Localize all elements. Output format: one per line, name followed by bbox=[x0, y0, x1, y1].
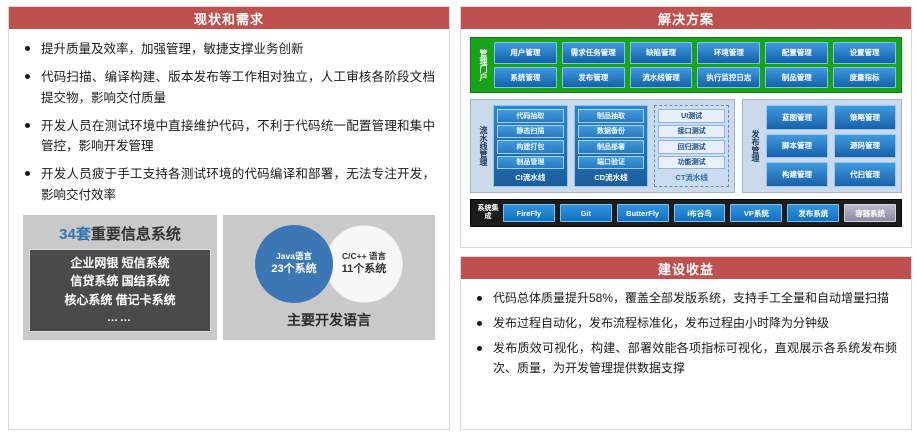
integration-item-git[interactable]: Git bbox=[560, 204, 612, 222]
release-button-strategy[interactable]: 策略管理 bbox=[834, 105, 896, 130]
ci-step-code-extract[interactable]: 代码抽取 bbox=[497, 109, 564, 123]
venn-cpp-label: C/C++ 语言 bbox=[342, 251, 386, 262]
cd-step-artifact-deploy[interactable]: 制品部署 bbox=[578, 140, 645, 154]
solution-panel: 解决方案 管理门户 用户管理 需求任务管理 缺陷管理 环境管理 配置管理 设置管… bbox=[460, 6, 912, 248]
solution-body: 管理门户 用户管理 需求任务管理 缺陷管理 环境管理 配置管理 设置管理 系统管… bbox=[461, 29, 911, 247]
venn-diagram: Java语言 23个系统 C/C++ 语言 11个系统 bbox=[249, 225, 409, 303]
release-management-label: 发布管理 bbox=[748, 105, 762, 187]
ci-step-artifact-mgmt[interactable]: 制品管理 bbox=[497, 156, 564, 170]
system-name-box: 企业网银 短信系统 信贷系统 国结系统 核心系统 借记卡系统 …… bbox=[29, 249, 211, 332]
current-status-body: 提升质量及效率，加强管理，敏捷支撑业务创新 代码扫描、编译构建、版本发布等工作相… bbox=[9, 29, 449, 346]
list-item: 代码扫描、编译构建、版本发布等工作相对独立，人工审核各阶段文档提交物，影响交付质… bbox=[23, 67, 435, 108]
cd-step-port-verify[interactable]: 端口验证 bbox=[578, 156, 645, 170]
integration-item-firefly[interactable]: FireFly bbox=[503, 204, 555, 222]
portal-button-execution-monitor-log[interactable]: 执行监控日志 bbox=[697, 67, 760, 89]
cd-step-artifact-extract[interactable]: 制品抽取 bbox=[578, 109, 645, 123]
portal-button-pipeline-management[interactable]: 流水线管理 bbox=[630, 67, 693, 89]
slide-root: 现状和需求 提升质量及效率，加强管理，敏捷支撑业务创新 代码扫描、编译构建、版本… bbox=[0, 0, 919, 436]
pipeline-column-ct[interactable]: UI测试 接口测试 回归测试 功能测试 CT流水线 bbox=[654, 105, 729, 187]
integration-item-container[interactable]: 容器系统 bbox=[844, 204, 896, 222]
stats-section: 34套重要信息系统 企业网银 短信系统 信贷系统 国结系统 核心系统 借记卡系统… bbox=[23, 215, 435, 340]
integration-item-butterfly[interactable]: ButterFly bbox=[617, 204, 669, 222]
portal-button-artifact-management[interactable]: 制品管理 bbox=[765, 67, 828, 89]
ct-step-function-test[interactable]: 功能测试 bbox=[658, 156, 725, 170]
list-item: 代码总体质量提升58%，覆盖全部发版系统，支持手工全量和自动增量扫描 bbox=[475, 289, 897, 308]
benefit-bullet-list: 代码总体质量提升58%，覆盖全部发版系统，支持手工全量和自动增量扫描 发布过程自… bbox=[475, 289, 897, 378]
management-portal-label: 管理门户 bbox=[476, 42, 490, 88]
pipeline-release-row: 流水线管理 代码抽取 静态扫描 构建打包 制品管理 CI流水线 制品抽取 数据备… bbox=[470, 99, 902, 193]
release-management-block: 发布管理 蓝图管理 策略管理 脚本管理 源码管理 构建管理 代扫管理 bbox=[742, 99, 902, 193]
portal-button-environment-management[interactable]: 环境管理 bbox=[697, 42, 760, 64]
system-count-label: 重要信息系统 bbox=[91, 226, 181, 243]
list-item: 核心系统 借记卡系统 bbox=[64, 291, 175, 310]
portal-button-settings-management[interactable]: 设置管理 bbox=[833, 42, 896, 64]
release-button-source-code[interactable]: 源码管理 bbox=[834, 134, 896, 159]
venn-caption: 主要开发语言 bbox=[287, 310, 371, 330]
list-item: 开发人员在测试环境中直接维护代码，不利于代码统一配置管理和集中管控，影响开发管理 bbox=[23, 116, 435, 157]
integration-item-cuckoo[interactable]: i布谷鸟 bbox=[674, 204, 726, 222]
portal-button-config-management[interactable]: 配置管理 bbox=[765, 42, 828, 64]
ct-step-interface-test[interactable]: 接口测试 bbox=[658, 125, 725, 139]
benefit-panel: 建设收益 代码总体质量提升58%，覆盖全部发版系统，支持手工全量和自动增量扫描 … bbox=[460, 256, 912, 430]
venn-cpp-count: 11个系统 bbox=[342, 262, 387, 276]
list-item: 开发人员疲于手工支持各测试环境的代码编译和部署，无法专注开发，影响交付效率 bbox=[23, 164, 435, 205]
ct-step-regression-test[interactable]: 回归测试 bbox=[658, 140, 725, 154]
release-button-grid: 蓝图管理 策略管理 脚本管理 源码管理 构建管理 代扫管理 bbox=[766, 105, 896, 187]
pipeline-name-cd: CD流水线 bbox=[578, 171, 645, 183]
list-item: 信贷系统 国结系统 bbox=[70, 272, 169, 291]
portal-button-system-management[interactable]: 系统管理 bbox=[494, 67, 557, 89]
pipeline-column-ci[interactable]: 代码抽取 静态扫描 构建打包 制品管理 CI流水线 bbox=[493, 105, 568, 187]
benefit-body: 代码总体质量提升58%，覆盖全部发版系统，支持手工全量和自动增量扫描 发布过程自… bbox=[461, 279, 911, 394]
ci-step-build-package[interactable]: 构建打包 bbox=[497, 140, 564, 154]
portal-button-requirement-task[interactable]: 需求任务管理 bbox=[562, 42, 625, 64]
management-portal-block: 管理门户 用户管理 需求任务管理 缺陷管理 环境管理 配置管理 设置管理 系统管… bbox=[470, 37, 902, 93]
language-venn-card: Java语言 23个系统 C/C++ 语言 11个系统 主要开发语言 bbox=[223, 215, 435, 340]
list-item: 提升质量及效率，加强管理，敏捷支撑业务创新 bbox=[23, 39, 435, 59]
portal-button-defect-management[interactable]: 缺陷管理 bbox=[630, 42, 693, 64]
portal-button-user-management[interactable]: 用户管理 bbox=[494, 42, 557, 64]
release-button-build[interactable]: 构建管理 bbox=[766, 162, 828, 187]
current-status-header: 现状和需求 bbox=[9, 7, 449, 29]
important-systems-card: 34套重要信息系统 企业网银 短信系统 信贷系统 国结系统 核心系统 借记卡系统… bbox=[23, 215, 217, 340]
solution-header: 解决方案 bbox=[461, 7, 911, 29]
benefit-header: 建设收益 bbox=[461, 257, 911, 279]
management-portal-button-grid: 用户管理 需求任务管理 缺陷管理 环境管理 配置管理 设置管理 系统管理 发布管… bbox=[494, 42, 896, 88]
cd-step-data-backup[interactable]: 数据备份 bbox=[578, 125, 645, 139]
ct-step-ui-test[interactable]: UI测试 bbox=[658, 109, 725, 123]
venn-java-label: Java语言 bbox=[276, 251, 312, 262]
integration-item-release[interactable]: 发布系统 bbox=[787, 204, 839, 222]
system-integration-grid: FireFly Git ButterFly i布谷鸟 VP系统 发布系统 容器系… bbox=[503, 204, 896, 222]
integration-item-vp-system[interactable]: VP系统 bbox=[730, 204, 782, 222]
venn-circle-cpp: C/C++ 语言 11个系统 bbox=[325, 225, 403, 303]
release-button-blueprint[interactable]: 蓝图管理 bbox=[766, 105, 828, 130]
ellipsis-text: …… bbox=[107, 310, 133, 327]
pipeline-management-label: 流水线管理 bbox=[476, 105, 490, 187]
release-button-code-scan[interactable]: 代扫管理 bbox=[834, 162, 896, 187]
release-button-script[interactable]: 脚本管理 bbox=[766, 134, 828, 159]
pipeline-management-block: 流水线管理 代码抽取 静态扫描 构建打包 制品管理 CI流水线 制品抽取 数据备… bbox=[470, 99, 735, 193]
ci-step-static-scan[interactable]: 静态扫描 bbox=[497, 125, 564, 139]
current-status-bullet-list: 提升质量及效率，加强管理，敏捷支撑业务创新 代码扫描、编译构建、版本发布等工作相… bbox=[23, 39, 435, 205]
current-status-panel: 现状和需求 提升质量及效率，加强管理，敏捷支撑业务创新 代码扫描、编译构建、版本… bbox=[8, 6, 450, 430]
list-item: 发布过程自动化，发布流程标准化，发布过程由小时降为分钟级 bbox=[475, 314, 897, 333]
system-integration-block: 系统集成 FireFly Git ButterFly i布谷鸟 VP系统 发布系… bbox=[470, 199, 902, 227]
venn-circle-java: Java语言 23个系统 bbox=[255, 225, 333, 303]
venn-java-count: 23个系统 bbox=[271, 262, 316, 276]
pipeline-columns: 代码抽取 静态扫描 构建打包 制品管理 CI流水线 制品抽取 数据备份 制品部署… bbox=[493, 105, 729, 187]
list-item: 发布质效可视化，构建、部署效能各项指标可视化，直观展示各系统发布频次、质量，为开… bbox=[475, 339, 897, 377]
important-systems-title: 34套重要信息系统 bbox=[59, 223, 181, 244]
portal-button-metrics[interactable]: 度量指标 bbox=[833, 67, 896, 89]
pipeline-column-cd[interactable]: 制品抽取 数据备份 制品部署 端口验证 CD流水线 bbox=[574, 105, 649, 187]
pipeline-name-ct: CT流水线 bbox=[658, 171, 725, 183]
system-count: 34套 bbox=[59, 226, 91, 243]
portal-button-release-management[interactable]: 发布管理 bbox=[562, 67, 625, 89]
pipeline-name-ci: CI流水线 bbox=[497, 171, 564, 183]
system-integration-label: 系统集成 bbox=[476, 204, 500, 222]
list-item: 企业网银 短信系统 bbox=[70, 254, 169, 273]
